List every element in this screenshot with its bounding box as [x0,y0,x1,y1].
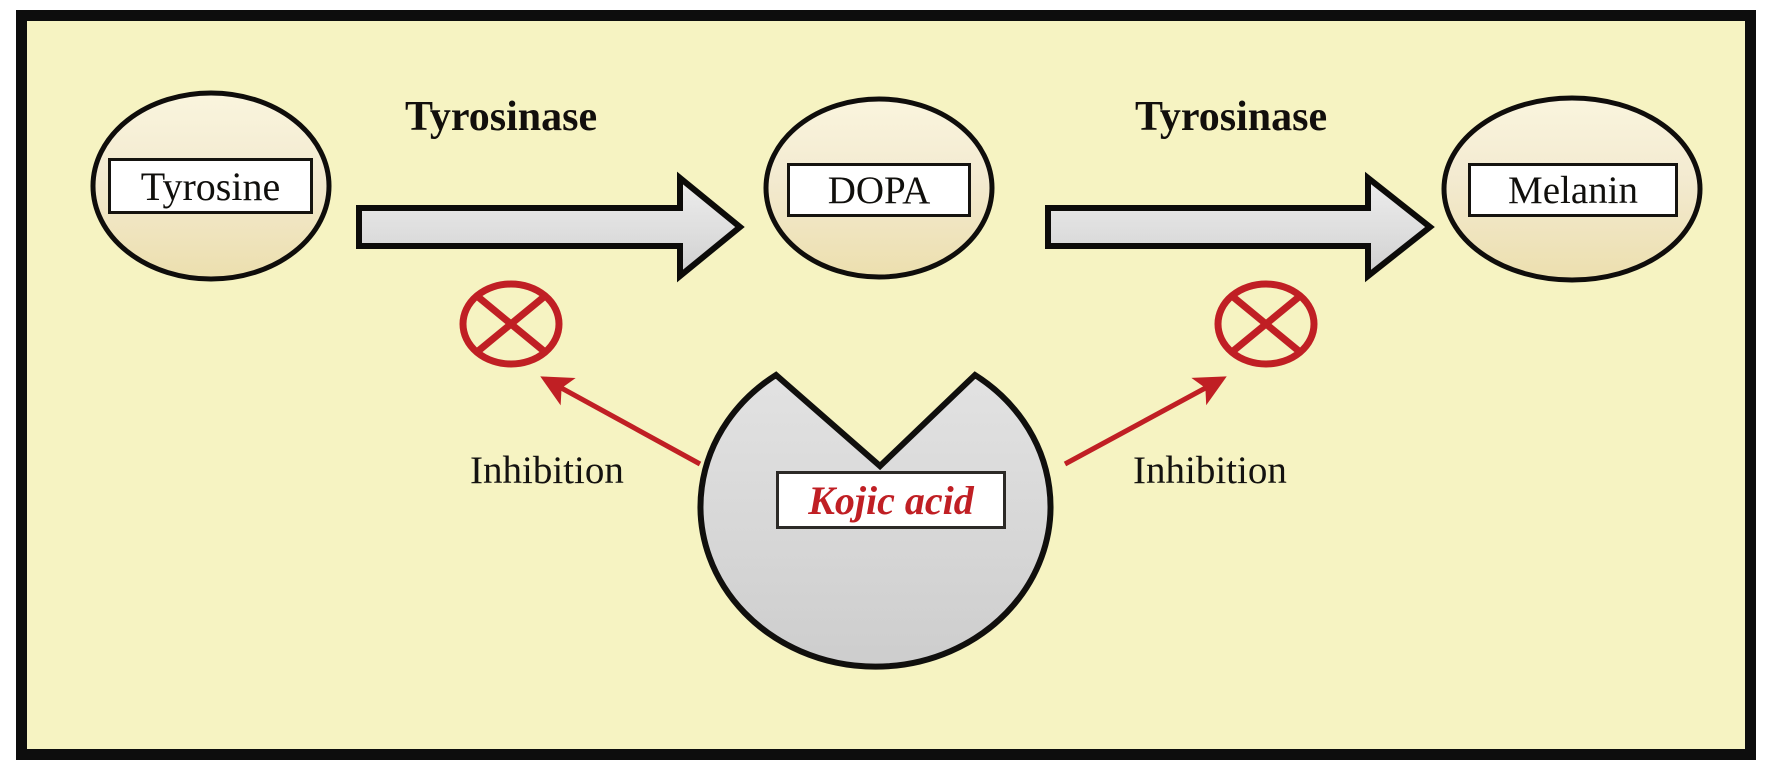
node-label-tyrosine: Tyrosine [108,158,313,214]
node-label-melanin: Melanin [1468,163,1678,217]
inhibitor-label-kojic-acid: Kojic acid [776,471,1006,529]
figure-root: Tyrosinase Tyrosinase Tyrosine DOPA Mela… [0,0,1772,773]
node-label-dopa: DOPA [787,163,971,217]
inhibition-label-right: Inhibition [1133,448,1287,493]
enzyme-label-tyrosinase-step2: Tyrosinase [1135,93,1327,141]
enzyme-label-tyrosinase-step1: Tyrosinase [405,93,597,141]
diagram-frame [16,10,1756,760]
inhibition-label-left: Inhibition [470,448,624,493]
